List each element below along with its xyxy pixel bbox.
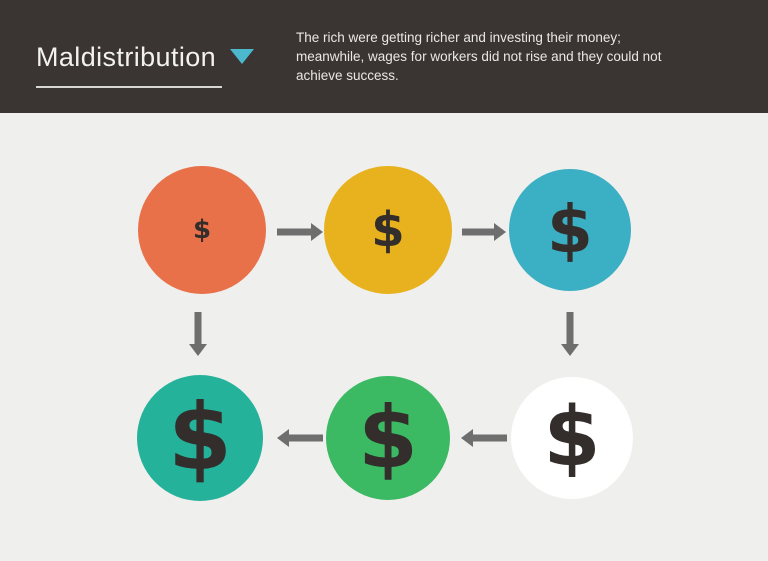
arrow-shaft: [288, 435, 323, 442]
arrow-left-icon: [461, 428, 507, 448]
dollar-sign-icon: $: [358, 395, 418, 481]
dollar-sign-icon: $: [371, 206, 404, 254]
title-underline: [36, 86, 222, 88]
money-flow-diagram: $$$$$$: [0, 113, 768, 561]
arrow-down-icon: [188, 312, 208, 356]
arrow-right-icon: [462, 222, 506, 242]
money-node-2[interactable]: $: [324, 166, 452, 294]
arrow-left-icon: [277, 428, 323, 448]
chevron-down-icon[interactable]: [230, 49, 254, 64]
arrow-shaft: [277, 229, 312, 236]
arrow-head: [277, 429, 289, 447]
title-block: Maldistribution: [36, 42, 296, 72]
arrow-head: [189, 344, 207, 356]
arrow-head: [311, 223, 323, 241]
money-node-1[interactable]: $: [138, 166, 266, 294]
arrow-shaft: [567, 312, 574, 345]
dollar-sign-icon: $: [168, 392, 232, 484]
arrow-head: [494, 223, 506, 241]
money-node-4[interactable]: $: [511, 377, 633, 499]
dollar-sign-icon: $: [193, 217, 211, 243]
money-node-6[interactable]: $: [137, 375, 263, 501]
arrow-shaft: [462, 229, 495, 236]
arrow-head: [461, 429, 473, 447]
header-bar: Maldistribution The rich were getting ri…: [0, 0, 768, 113]
header-subtitle: The rich were getting richer and investi…: [296, 28, 666, 85]
money-node-5[interactable]: $: [326, 376, 450, 500]
arrow-down-icon: [560, 312, 580, 356]
page-title: Maldistribution: [36, 42, 216, 72]
arrow-right-icon: [277, 222, 323, 242]
money-node-3[interactable]: $: [509, 169, 631, 291]
dollar-sign-icon: $: [543, 397, 600, 479]
arrow-shaft: [472, 435, 507, 442]
dollar-sign-icon: $: [547, 197, 593, 263]
arrow-shaft: [195, 312, 202, 345]
arrow-head: [561, 344, 579, 356]
